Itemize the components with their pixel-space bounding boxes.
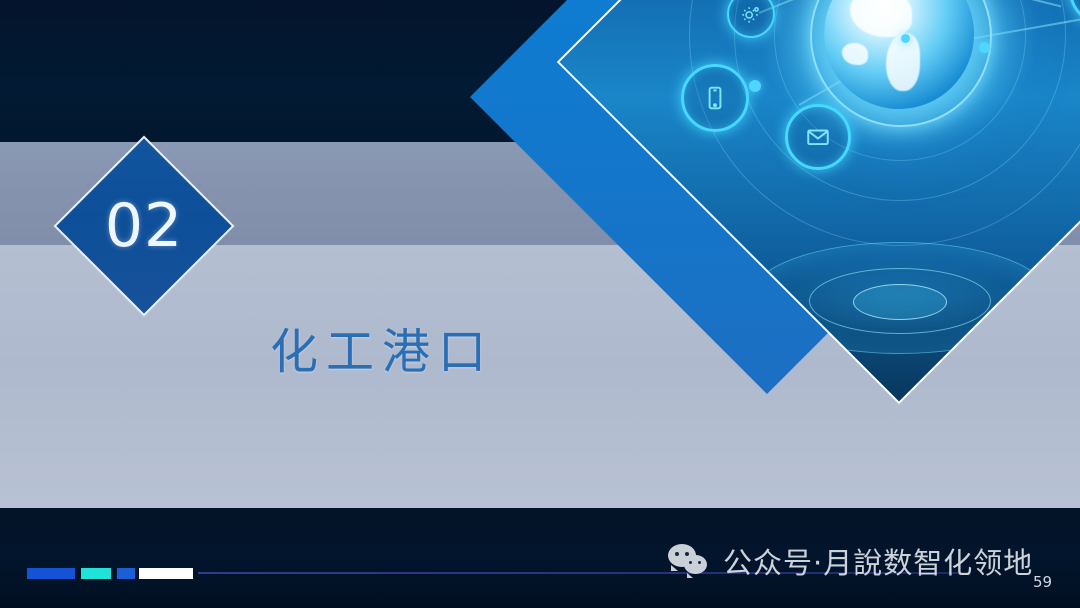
watermark-text: 公众号·月說数智化领地 — [723, 540, 1033, 582]
page-number: 59 — [1033, 573, 1052, 591]
watermark: 公众号·月說数智化领地 — [668, 540, 1033, 582]
mail-icon — [785, 104, 851, 170]
progress-segment-4 — [139, 568, 193, 579]
phone-icon — [681, 64, 749, 132]
wechat-icon — [668, 544, 712, 578]
progress-segment-1 — [27, 568, 75, 579]
progress-segment-2 — [81, 568, 111, 579]
radar-hud-inner — [853, 284, 947, 320]
slide-canvas: 02 化工港口 公众号·月說数智化领地 59 — [0, 0, 1080, 608]
section-title: 化工港口 — [270, 312, 494, 382]
section-number-label: 02 — [80, 162, 208, 290]
progress-segment-3 — [117, 568, 135, 579]
